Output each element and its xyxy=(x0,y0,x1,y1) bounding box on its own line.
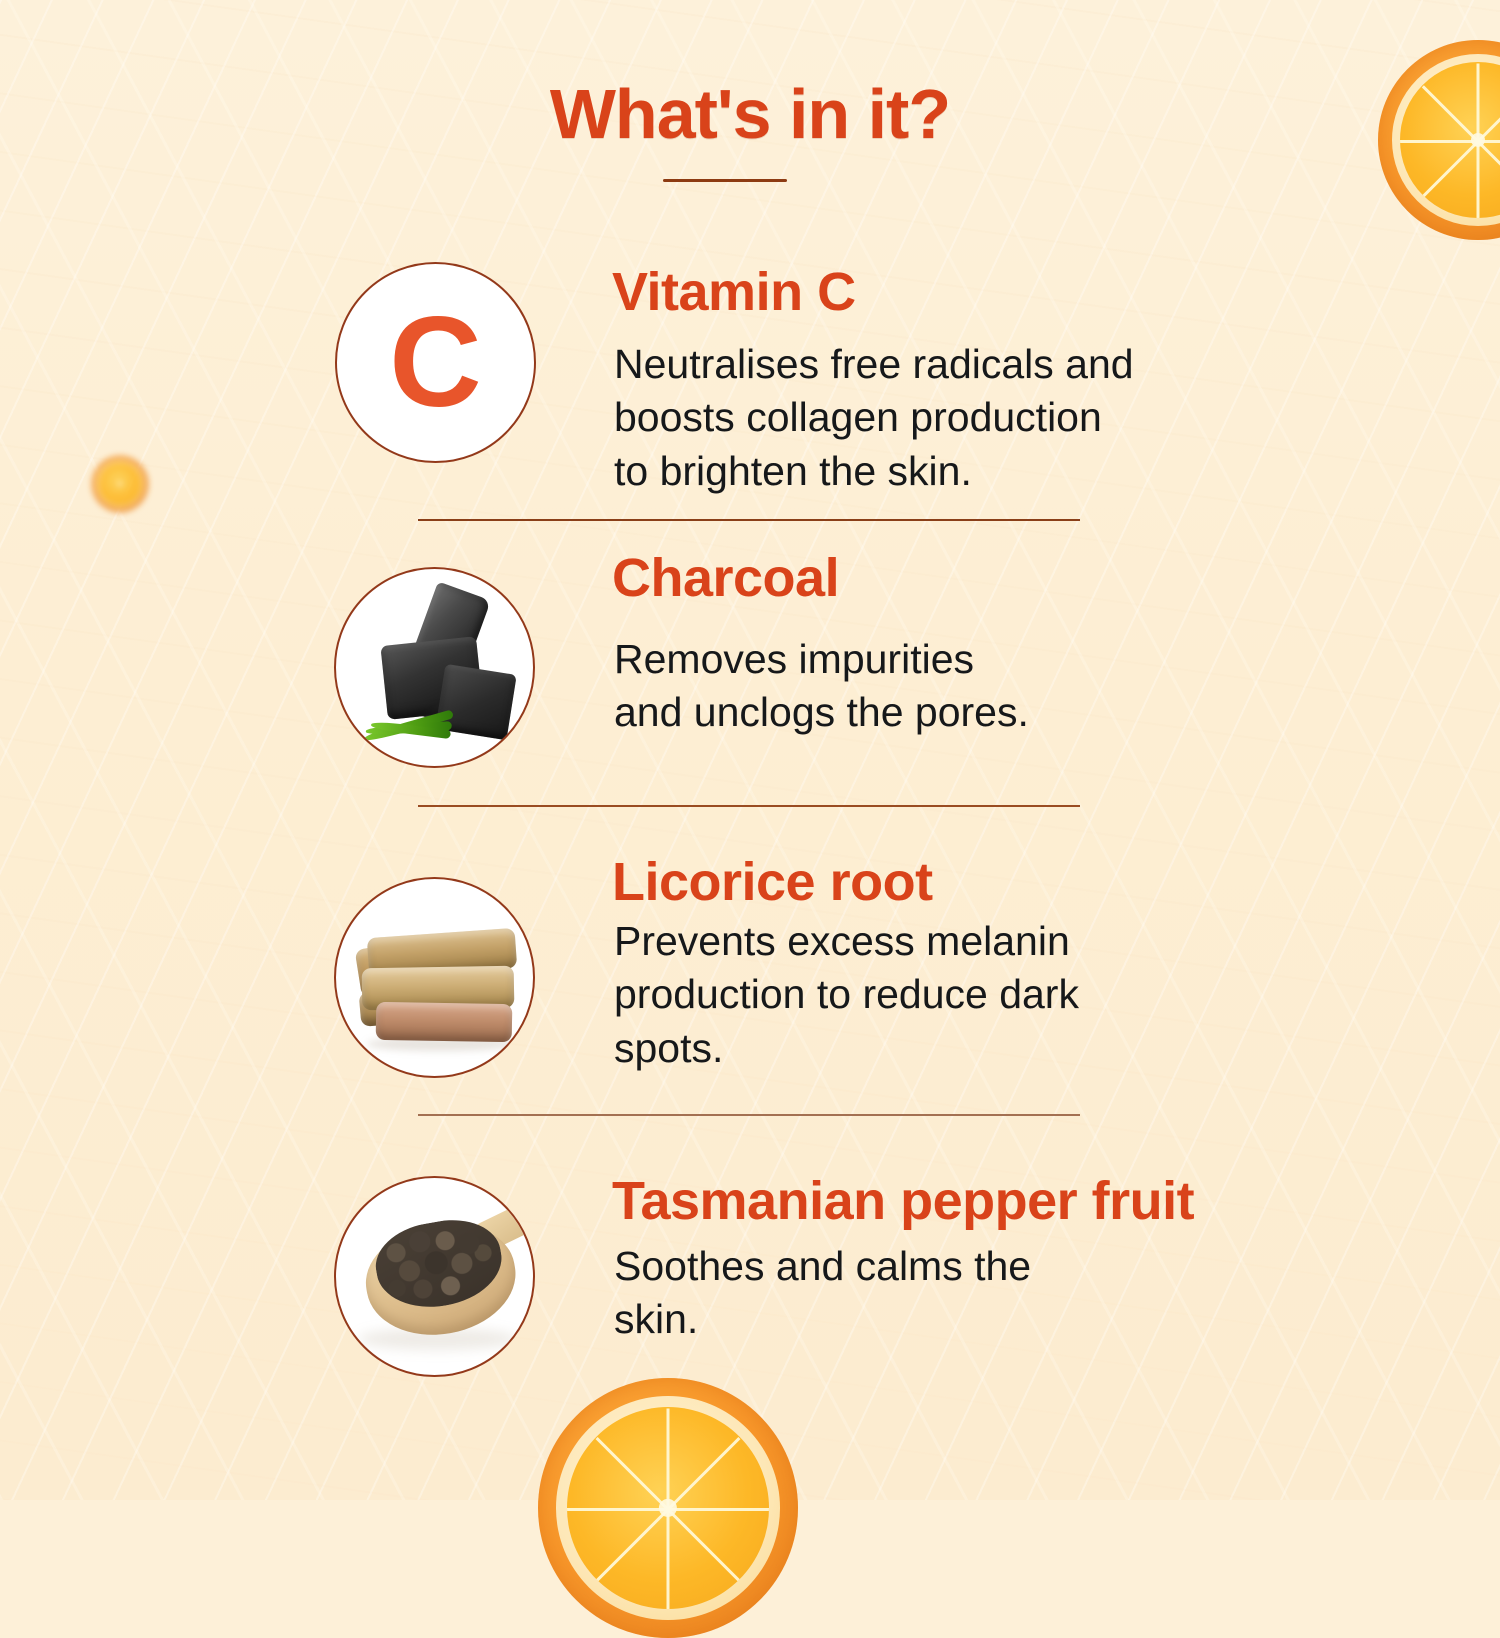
page-title: What's in it? xyxy=(0,74,1500,154)
ingredients-infographic: What's in it? C Vitamin C Neutralises fr… xyxy=(0,0,1500,1500)
ingredient-icon-vitamin-c: C xyxy=(335,262,536,463)
ingredient-name-licorice-root: Licorice root xyxy=(612,855,933,909)
ingredient-icon-charcoal xyxy=(334,567,535,768)
ingredient-icon-licorice-root xyxy=(334,877,535,1078)
ingredient-description-licorice-root: Prevents excess melanin production to re… xyxy=(614,915,1079,1075)
orange-flesh xyxy=(567,1407,770,1610)
licorice-stick xyxy=(376,1002,513,1042)
ingredient-name-charcoal: Charcoal xyxy=(612,551,839,605)
ingredient-name-tasmanian-pepper-fruit: Tasmanian pepper fruit xyxy=(612,1174,1194,1228)
ingredient-icon-tasmanian-pepper-fruit xyxy=(334,1176,535,1377)
ingredient-description-tasmanian-pepper-fruit: Soothes and calms the skin. xyxy=(614,1240,1031,1347)
title-underline-rule xyxy=(663,179,787,182)
orange-slice-small-left-icon xyxy=(92,456,148,512)
ingredient-description-charcoal: Removes impurities and unclogs the pores… xyxy=(614,633,1029,740)
section-divider-2 xyxy=(418,805,1080,807)
section-divider-1 xyxy=(418,519,1080,521)
section-divider-3 xyxy=(418,1114,1080,1116)
orange-flesh xyxy=(98,462,142,506)
vitamin-c-letter-icon: C xyxy=(337,264,534,461)
ingredient-name-vitamin-c: Vitamin C xyxy=(612,265,856,319)
orange-slice-bottom-icon xyxy=(538,1378,798,1638)
ingredient-description-vitamin-c: Neutralises free radicals and boosts col… xyxy=(614,338,1134,498)
